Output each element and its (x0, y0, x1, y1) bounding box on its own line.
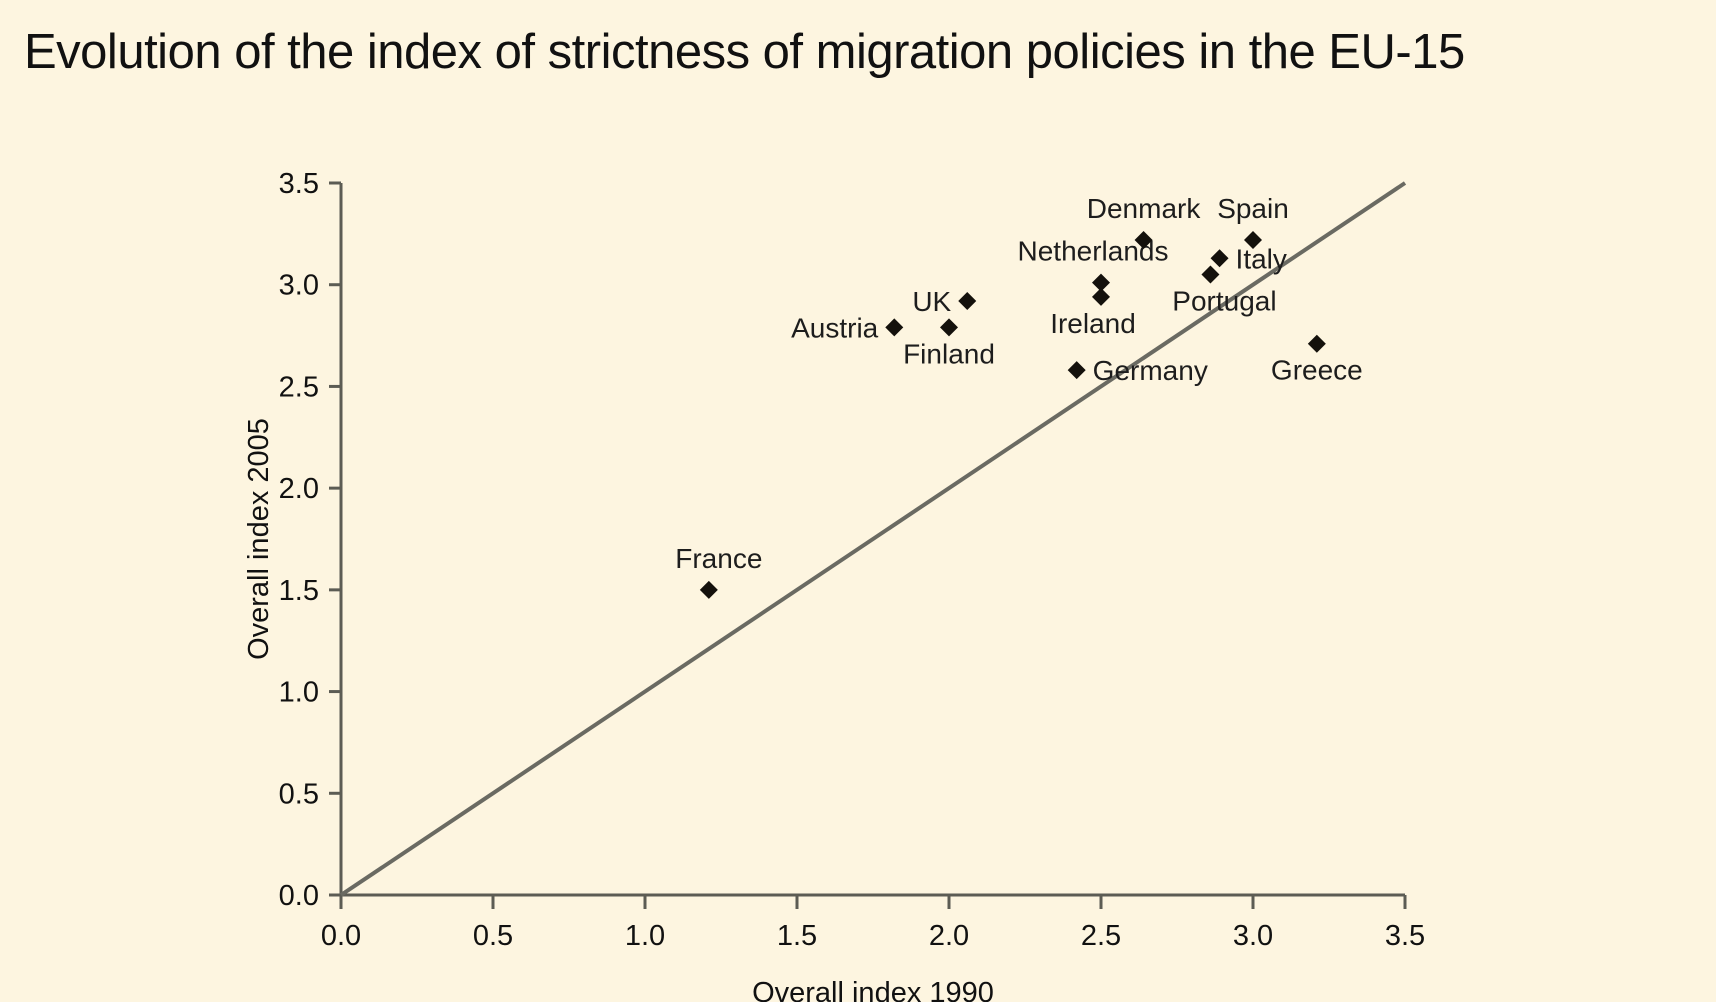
y-tick-label: 0.0 (279, 880, 319, 912)
x-tick-label: 2.5 (1081, 920, 1121, 952)
y-tick-label: 2.0 (279, 473, 319, 505)
data-point-marker (1068, 361, 1086, 379)
data-point-label: UK (912, 286, 951, 317)
data-point-label: Portugal (1172, 286, 1276, 317)
data-points-group: AustriaUKFinlandNetherlandsIrelandDenmar… (675, 193, 1362, 599)
y-tick-label: 0.5 (279, 778, 319, 810)
x-tick-label: 2.0 (929, 920, 969, 952)
y-tick-label: 2.5 (279, 371, 319, 403)
data-point-label: Greece (1271, 355, 1363, 386)
x-axis-title: Overall index 1990 (752, 977, 994, 1002)
data-point-marker (940, 318, 958, 336)
data-point-label: Austria (791, 312, 879, 343)
y-tick-label: 3.5 (279, 168, 319, 200)
data-point-label: Denmark (1087, 193, 1202, 224)
x-tick-label: 0.5 (473, 920, 513, 952)
data-point-label: Finland (903, 338, 995, 369)
data-point-label: Italy (1236, 243, 1287, 274)
x-tick-label: 3.5 (1385, 920, 1425, 952)
data-point-label: Spain (1217, 193, 1289, 224)
data-point-marker (958, 292, 976, 310)
x-tick-label: 1.0 (625, 920, 665, 952)
x-tick-label: 0.0 (321, 920, 361, 952)
data-point-label: Germany (1093, 355, 1208, 386)
data-point-marker (885, 318, 903, 336)
data-point-marker (1211, 249, 1229, 267)
data-point-marker (1201, 266, 1219, 284)
data-point-marker (1092, 288, 1110, 306)
data-point-marker (700, 581, 718, 599)
y-axis-title: Overall index 2005 (243, 418, 275, 660)
y-tick-label: 3.0 (279, 270, 319, 302)
scatter-plot-svg: 0.00.51.01.52.02.53.03.50.00.51.01.52.02… (0, 0, 1716, 1002)
y-tick-label: 1.0 (279, 677, 319, 709)
y-tick-label: 1.5 (279, 575, 319, 607)
scatter-plot-container: 0.00.51.01.52.02.53.03.50.00.51.01.52.02… (0, 0, 1716, 1002)
data-point-label: Ireland (1050, 308, 1136, 339)
x-tick-label: 1.5 (777, 920, 817, 952)
data-point-marker (1308, 335, 1326, 353)
data-point-label: France (675, 543, 762, 574)
x-tick-label: 3.0 (1233, 920, 1273, 952)
